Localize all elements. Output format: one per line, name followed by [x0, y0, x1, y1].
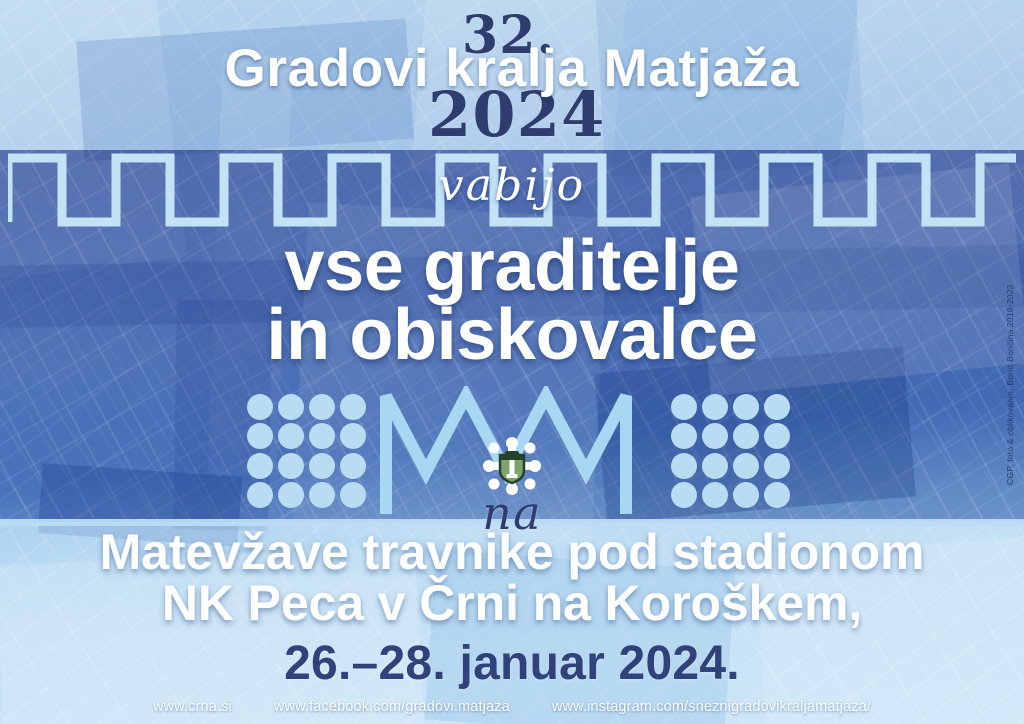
credit-text: CGP, foto & oblikovanje: Borut Bončina 2…: [1000, 250, 1022, 490]
link-instagram[interactable]: www.instagram.com/sneznigradovikraljamat…: [552, 699, 871, 715]
poster: 32. 2024 GradovikraljaMatjaža vabijo vse…: [0, 0, 1024, 724]
venue: Matevžave travnike pod stadionom NK Peca…: [0, 527, 1024, 629]
invite-verb: vabijo: [0, 160, 1024, 211]
credit-label: CGP, foto & oblikovanje: Borut Bončina 2…: [1005, 249, 1015, 485]
link-website[interactable]: www.crna.si: [153, 699, 232, 715]
title-word-matjaza: Matjaža: [604, 39, 800, 98]
headline: vse graditelje in obiskovalce: [0, 232, 1024, 370]
page-title: GradovikraljaMatjaža: [0, 42, 1024, 95]
headline-line-1: vse graditelje: [0, 232, 1024, 301]
title-word-kralja: kralja: [445, 39, 587, 98]
headline-line-2: in obiskovalce: [0, 301, 1024, 370]
link-facebook[interactable]: www.facebook.com/gradovi.matjaza: [274, 699, 510, 715]
title-word-gradovi: Gradovi: [225, 39, 430, 98]
footer-links: www.crna.si www.facebook.com/gradovi.mat…: [0, 699, 1024, 715]
venue-line-1: Matevžave travnike pod stadionom: [0, 527, 1024, 578]
event-dates: 26.–28. januar 2024.: [0, 636, 1024, 691]
venue-line-2: NK Peca v Črni na Koroškem,: [0, 578, 1024, 629]
